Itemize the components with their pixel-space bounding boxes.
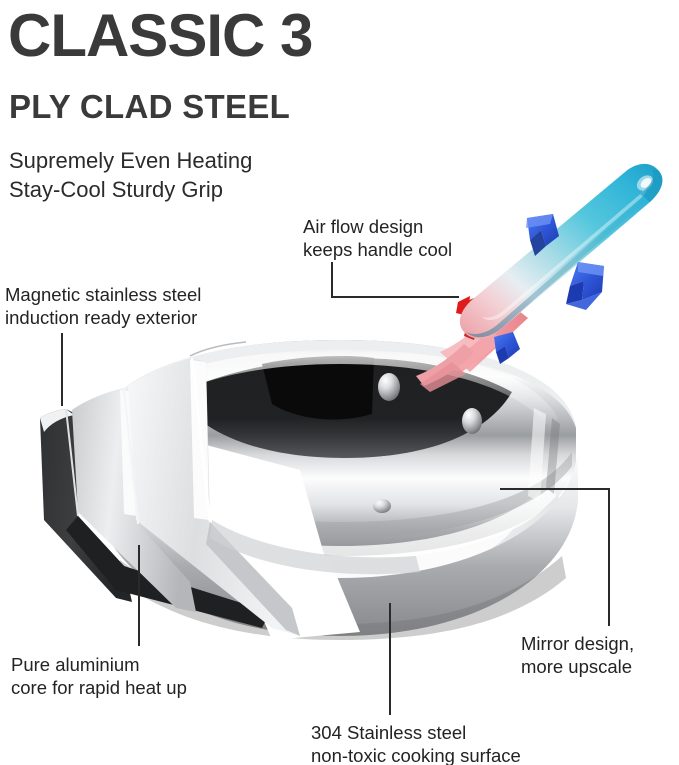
callout-aluminium-line-2: core for rapid heat up (11, 676, 187, 699)
air-flow-arrow-blue-lower (494, 332, 520, 364)
callout-mirror-line-2: more upscale (521, 655, 634, 678)
leader-line-airflow-vertical (331, 262, 333, 298)
leader-line-airflow-horizontal (331, 296, 459, 298)
callout-air-flow-line-1: Air flow design (303, 215, 452, 238)
leader-line-mirror-horizontal (500, 488, 610, 490)
leader-line-magnetic (61, 333, 63, 406)
callout-aluminium-core: Pure aluminium core for rapid heat up (11, 653, 187, 699)
handle-body (460, 164, 663, 339)
air-flow-arrow-blue-middle (566, 262, 604, 310)
leader-line-mirror-vertical (608, 488, 610, 626)
product-infographic: CLASSIC 3 PLY CLAD STEEL Supremely Even … (0, 0, 679, 765)
callout-stainless-surface: 304 Stainless steel non-toxic cooking su… (311, 721, 521, 765)
callout-stainless-line-1: 304 Stainless steel (311, 721, 521, 744)
callout-mirror-design: Mirror design, more upscale (521, 632, 634, 678)
callout-magnetic-line-1: Magnetic stainless steel (5, 283, 201, 306)
callout-magnetic-exterior: Magnetic stainless steel induction ready… (5, 283, 201, 329)
callout-aluminium-line-1: Pure aluminium (11, 653, 187, 676)
callout-magnetic-line-2: induction ready exterior (5, 306, 201, 329)
leader-line-stainless (389, 603, 391, 715)
callout-stainless-line-2: non-toxic cooking surface (311, 744, 521, 765)
callout-air-flow: Air flow design keeps handle cool (303, 215, 452, 261)
leader-line-aluminium (138, 545, 140, 646)
callout-mirror-line-1: Mirror design, (521, 632, 634, 655)
callout-air-flow-line-2: keeps handle cool (303, 238, 452, 261)
